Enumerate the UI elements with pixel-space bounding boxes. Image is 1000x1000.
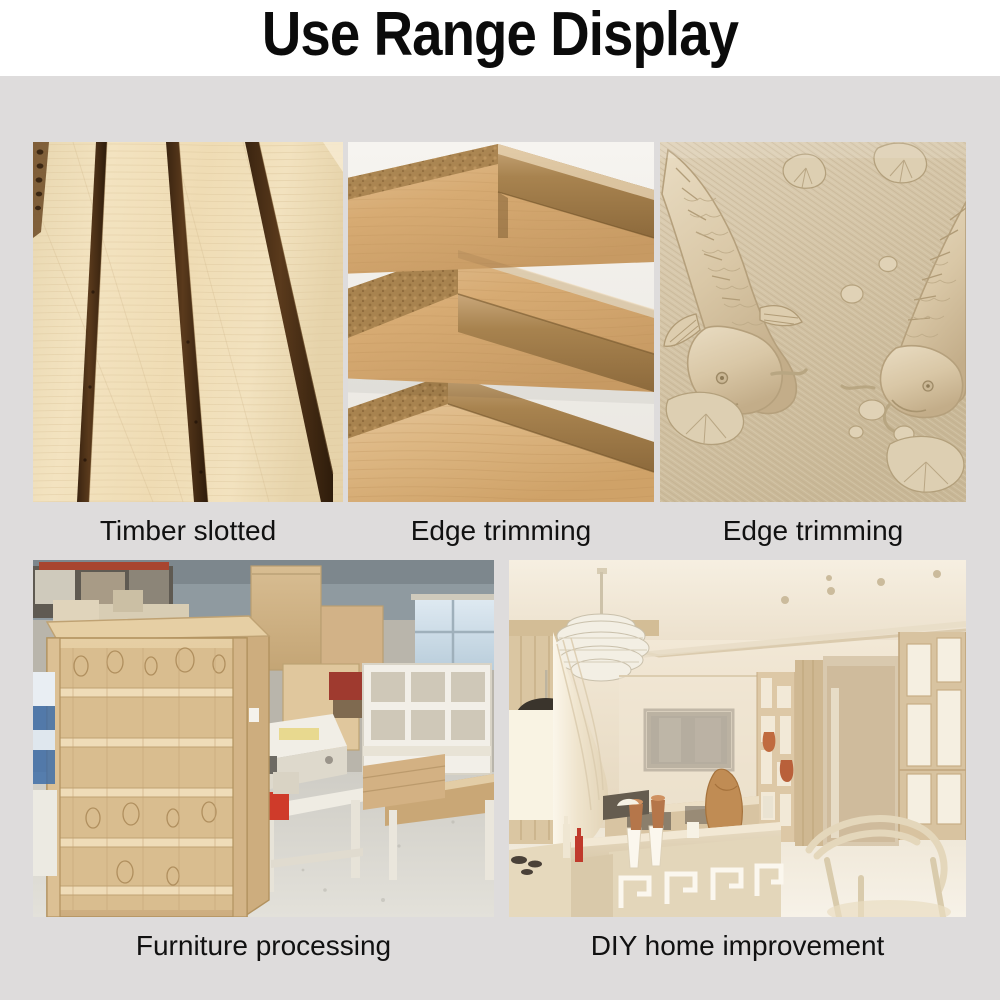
partition-screen-center: [757, 672, 795, 842]
interior-illustration: [509, 560, 966, 917]
pine-bookshelf: [47, 616, 269, 917]
timber-slotted-illustration: [33, 142, 343, 502]
partition-screen-right: [899, 632, 966, 840]
image-edge-trimming-boards: [348, 142, 654, 502]
use-range-display-page: Use Range Display: [0, 0, 1000, 1000]
image-diy-interior: [509, 560, 966, 917]
koi-carving-illustration: [660, 142, 966, 502]
caption-timber-slotted: Timber slotted: [33, 514, 343, 548]
workshop-illustration: [33, 560, 494, 917]
caption-diy-home-improvement: DIY home improvement: [509, 929, 966, 963]
image-carved-koi-relief: [660, 142, 966, 502]
image-timber-slotted: [33, 142, 343, 502]
caption-furniture-processing: Furniture processing: [33, 929, 494, 963]
page-title: Use Range Display: [60, 2, 940, 68]
caption-edge-trimming-carving: Edge trimming: [660, 514, 966, 548]
image-furniture-workshop: [33, 560, 494, 917]
caption-edge-trimming-boards: Edge trimming: [348, 514, 654, 548]
plywood-stack-illustration: [348, 142, 654, 502]
